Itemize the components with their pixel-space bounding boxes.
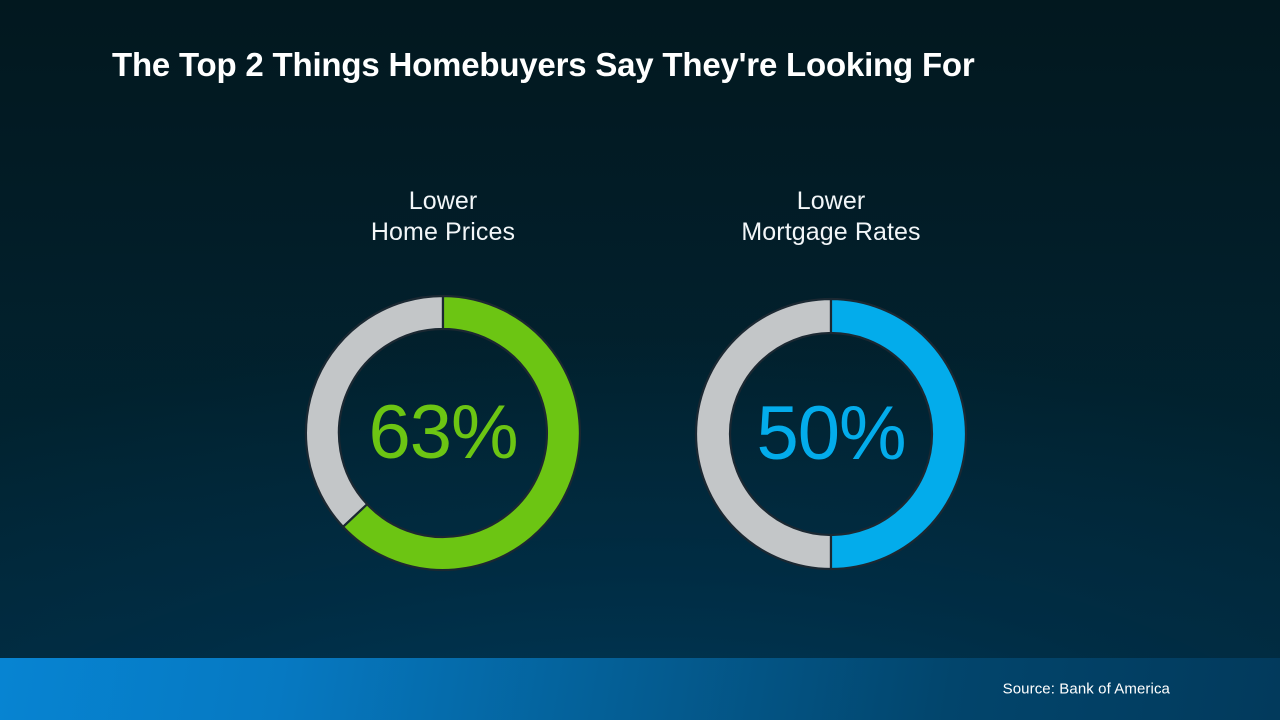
slide-canvas: The Top 2 Things Homebuyers Say They're … [0,0,1280,720]
footer-bar: Source: Bank of America [0,658,1280,720]
donut-svg-home-prices [300,290,586,576]
page-title: The Top 2 Things Homebuyers Say They're … [112,46,1172,84]
donut-label-line-2: Mortgage Rates [666,217,996,248]
donut-label-mortgage-rates: Lower Mortgage Rates [666,186,996,248]
donut-label-line-1: Lower [278,186,608,217]
donut-svg-mortgage-rates [688,291,974,577]
donut-label-home-prices: Lower Home Prices [278,186,608,248]
donut-segment-value [831,299,966,569]
source-attribution: Source: Bank of America [1003,681,1170,698]
donut-segment-remainder [696,299,831,569]
donut-chart-home-prices: 63% [300,290,586,576]
donut-chart-mortgage-rates: 50% [688,291,974,577]
donut-segment-remainder [306,296,443,527]
donut-label-line-1: Lower [666,186,996,217]
donut-block-home-prices: Lower Home Prices 63% [278,186,608,576]
donut-label-line-2: Home Prices [278,217,608,248]
donut-block-mortgage-rates: Lower Mortgage Rates 50% [666,186,996,577]
